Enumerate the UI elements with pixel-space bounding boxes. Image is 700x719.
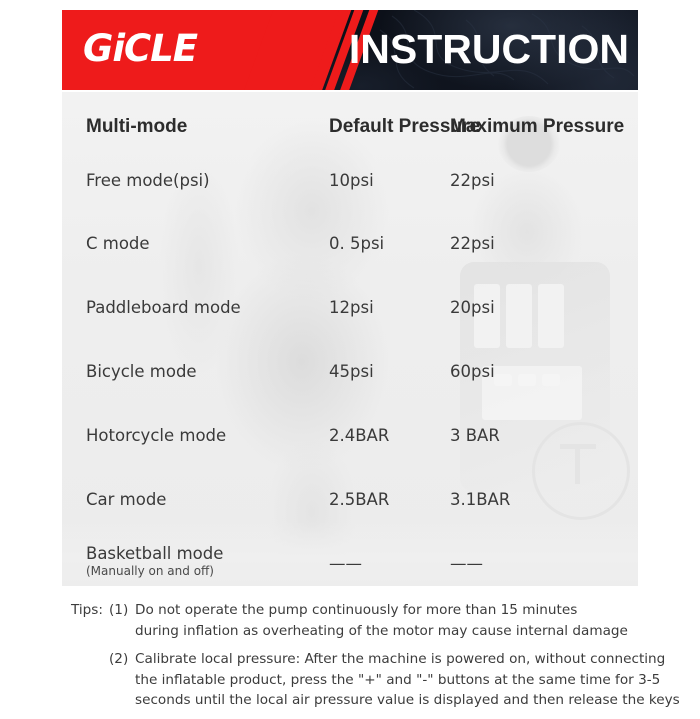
row-mode: Bicycle mode bbox=[86, 357, 197, 387]
row-maximum-pressure: 22psi bbox=[450, 229, 495, 259]
page-title: INSTRUCTION bbox=[313, 21, 629, 77]
table-header-row: Multi-mode Default Pressure Maximum Pres… bbox=[62, 114, 638, 140]
row-default-pressure: 0. 5psi bbox=[329, 229, 384, 259]
row-maximum-pressure: 60psi bbox=[450, 357, 495, 387]
table-row: Free mode(psi) 10psi 22psi bbox=[62, 166, 638, 196]
row-maximum-pressure: 22psi bbox=[450, 166, 495, 196]
row-maximum-pressure: 3 BAR bbox=[450, 421, 500, 451]
tip-line: during inflation as overheating of the m… bbox=[135, 621, 662, 642]
tip-number: (2) bbox=[109, 649, 128, 670]
row-mode-label: Basketball mode bbox=[86, 543, 223, 564]
tip-item-1: Tips: (1) Do not operate the pump contin… bbox=[62, 600, 662, 641]
row-mode: Free mode(psi) bbox=[86, 166, 210, 196]
row-default-pressure: —— bbox=[329, 543, 362, 585]
row-default-pressure: 12psi bbox=[329, 293, 374, 323]
specification-table: Multi-mode Default Pressure Maximum Pres… bbox=[62, 92, 638, 586]
column-header-mode: Multi-mode bbox=[86, 114, 187, 140]
tip-number: (1) bbox=[109, 600, 128, 621]
row-default-pressure: 10psi bbox=[329, 166, 374, 196]
row-mode: Basketball mode (Manually on and off) bbox=[86, 543, 223, 579]
row-maximum-pressure: 20psi bbox=[450, 293, 495, 323]
tips-section: Tips: (1) Do not operate the pump contin… bbox=[62, 600, 662, 719]
row-default-pressure: 2.4BAR bbox=[329, 421, 389, 451]
row-mode-subtitle: (Manually on and off) bbox=[86, 564, 223, 579]
row-default-pressure: 45psi bbox=[329, 357, 374, 387]
row-maximum-pressure: 3.1BAR bbox=[450, 485, 510, 515]
tips-label: Tips: bbox=[71, 600, 103, 621]
instruction-page: GiCLE INSTRUCTION Multi-mode Default Pre… bbox=[0, 0, 700, 700]
tip-item-2: (2) Calibrate local pressure: After the … bbox=[62, 649, 662, 711]
header-banner: GiCLE INSTRUCTION bbox=[62, 10, 638, 90]
table-row: Basketball mode (Manually on and off) ——… bbox=[62, 543, 638, 573]
table-row: Paddleboard mode 12psi 20psi bbox=[62, 293, 638, 323]
brand-logo: GiCLE bbox=[83, 27, 197, 71]
specification-table-panel: Multi-mode Default Pressure Maximum Pres… bbox=[62, 92, 638, 586]
row-mode: Paddleboard mode bbox=[86, 293, 241, 323]
table-row: C mode 0. 5psi 22psi bbox=[62, 229, 638, 259]
table-row: Car mode 2.5BAR 3.1BAR bbox=[62, 485, 638, 515]
row-mode: Car mode bbox=[86, 485, 166, 515]
tip-line: the inflatable product, press the "+" an… bbox=[135, 670, 662, 691]
tip-line: seconds until the local air pressure val… bbox=[135, 690, 662, 711]
column-header-maximum-pressure: Maximum Pressure bbox=[450, 114, 624, 140]
table-row: Bicycle mode 45psi 60psi bbox=[62, 357, 638, 387]
tip-text: Do not operate the pump continuously for… bbox=[135, 600, 662, 641]
table-row: Hotorcycle mode 2.4BAR 3 BAR bbox=[62, 421, 638, 451]
tip-line: Do not operate the pump continuously for… bbox=[135, 600, 662, 621]
row-mode: Hotorcycle mode bbox=[86, 421, 226, 451]
tip-text: Calibrate local pressure: After the mach… bbox=[135, 649, 662, 711]
tip-line: Calibrate local pressure: After the mach… bbox=[135, 649, 662, 670]
row-maximum-pressure: —— bbox=[450, 543, 483, 585]
row-mode: C mode bbox=[86, 229, 150, 259]
row-default-pressure: 2.5BAR bbox=[329, 485, 389, 515]
